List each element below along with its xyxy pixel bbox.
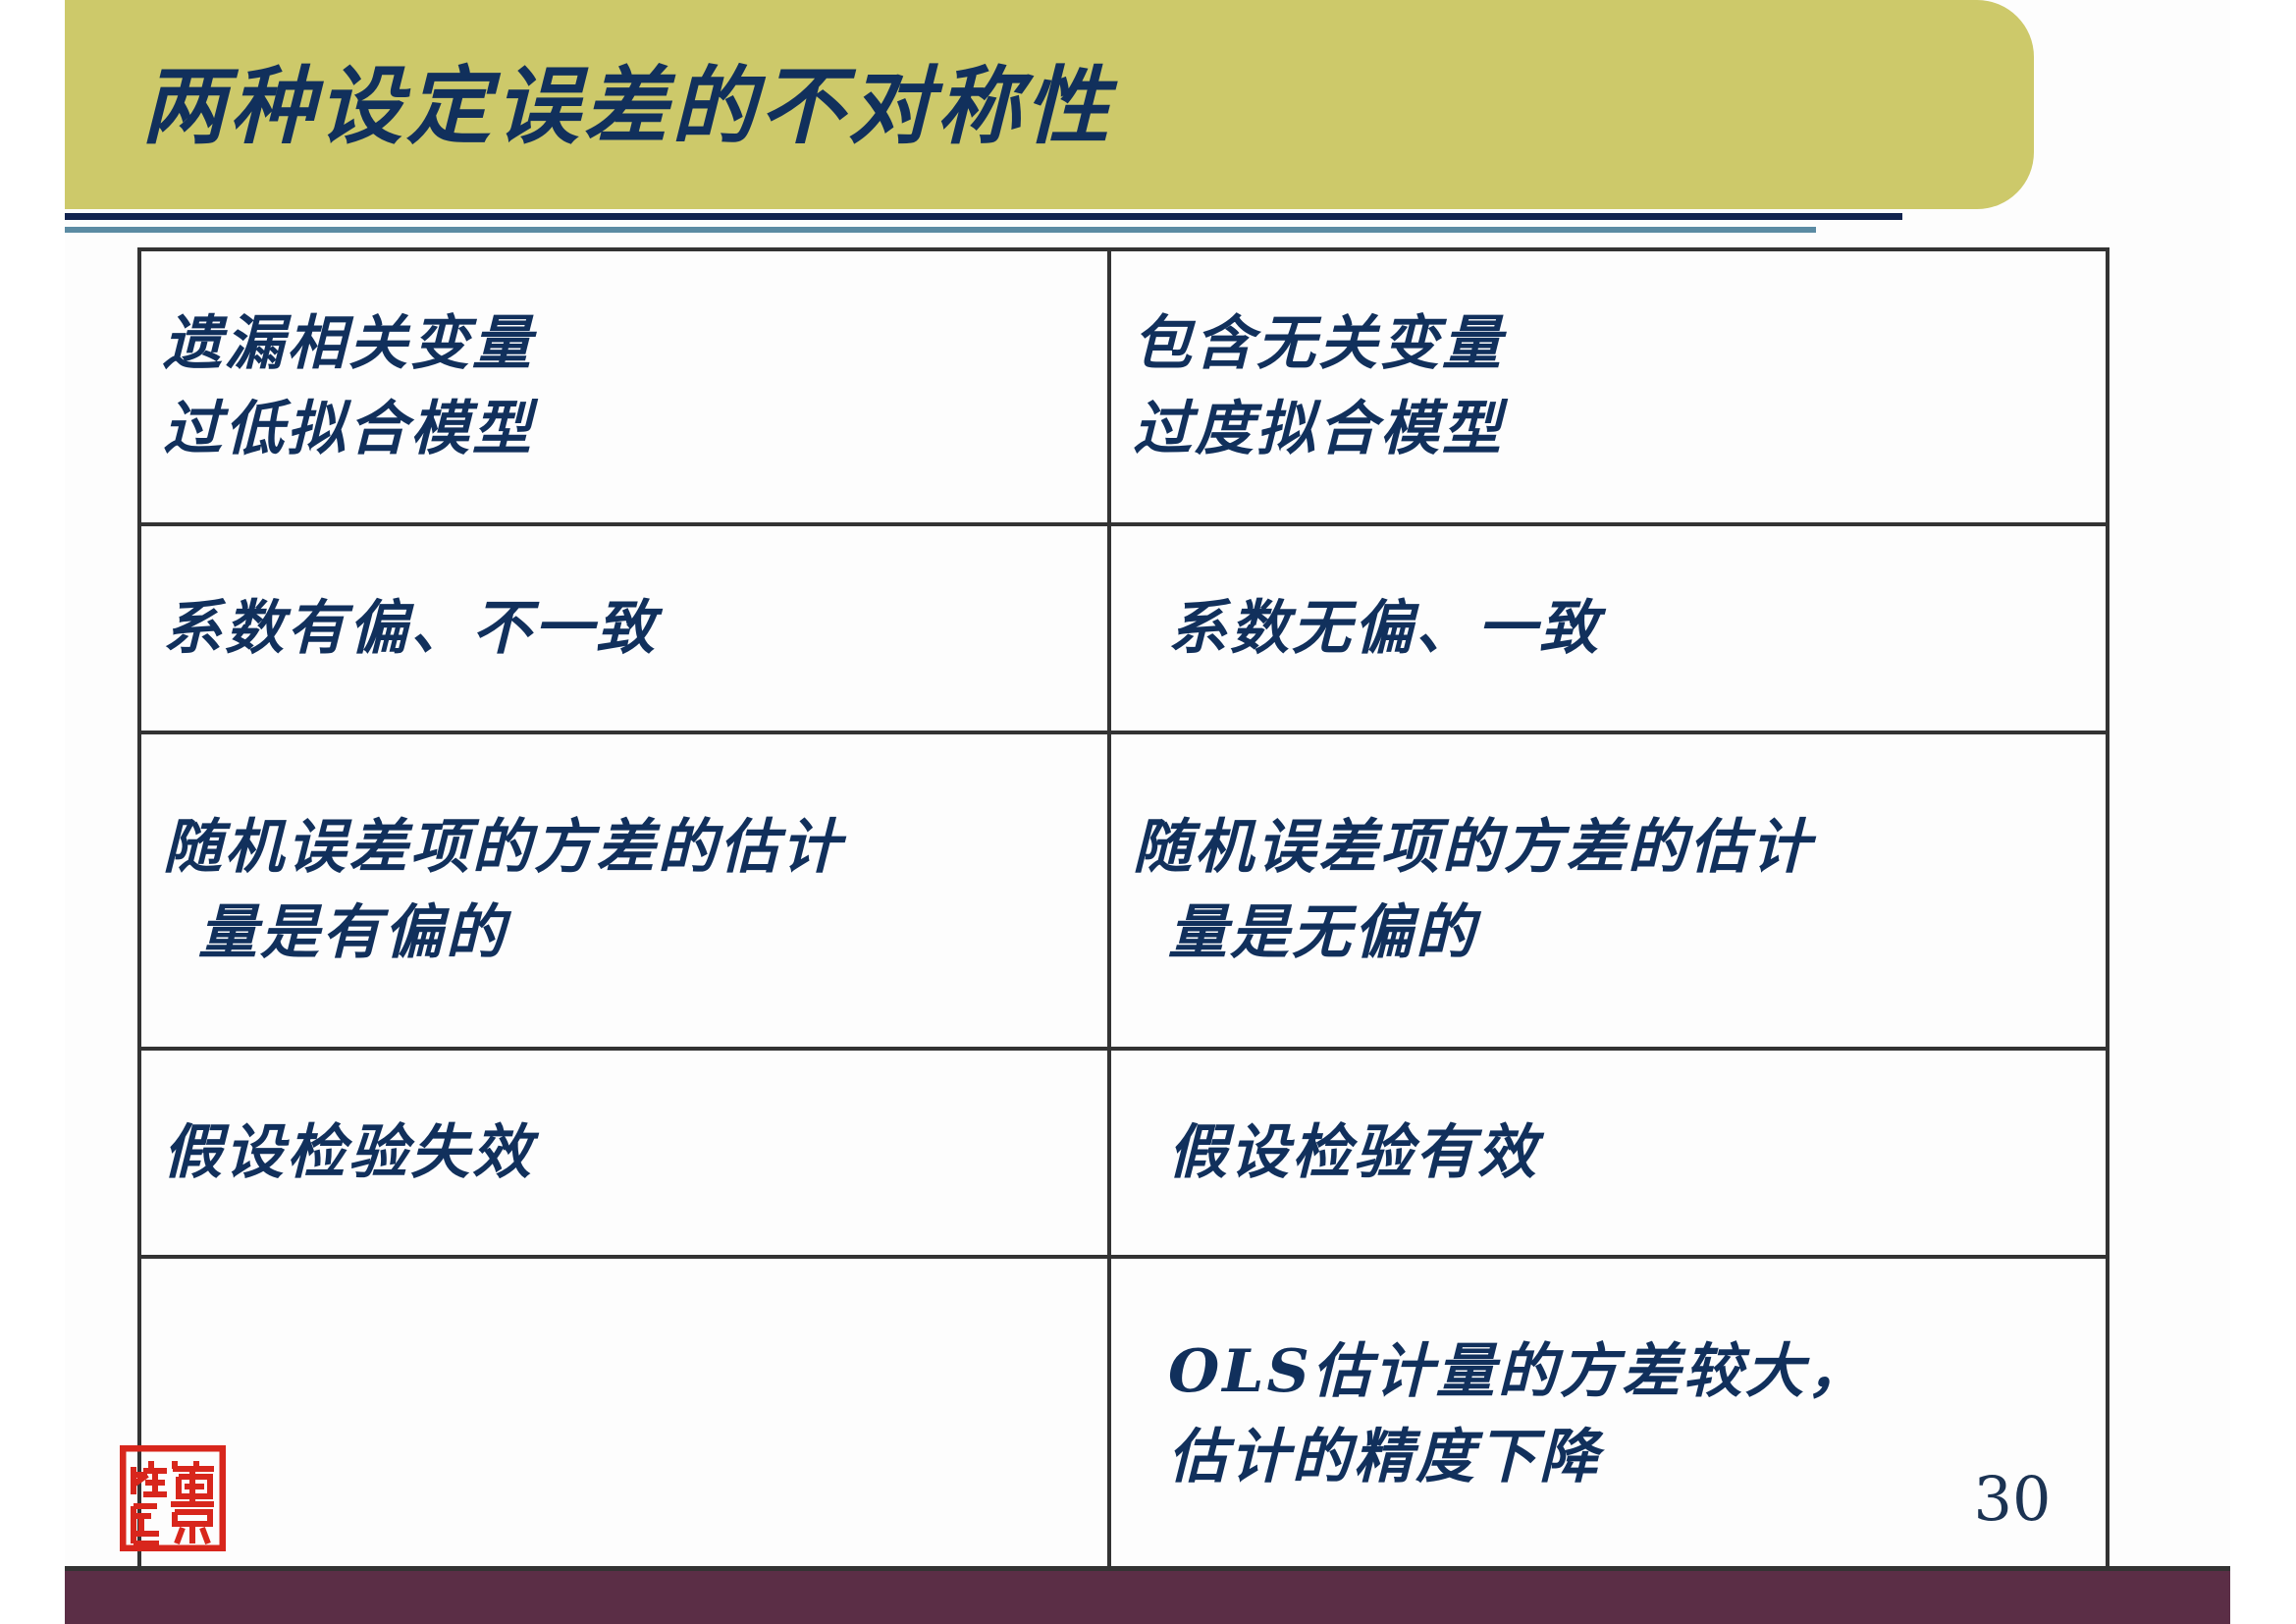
cell-line: 假设检验失效 bbox=[163, 1110, 1107, 1196]
cell-line: 量是无偏的 bbox=[1133, 891, 2106, 976]
table-row: 遗漏相关变量 过低拟合模型 包含无关变量 过度拟合模型 bbox=[139, 249, 2108, 524]
cell-line: 随机误差项的方差的估计 bbox=[1133, 805, 2106, 891]
table-cell-right: 包含无关变量 过度拟合模型 bbox=[1109, 249, 2108, 524]
table-cell-right: 随机误差项的方差的估计 量是无偏的 bbox=[1109, 732, 2108, 1049]
cell-line: 量是有偏的 bbox=[163, 891, 1107, 976]
slide-canvas: 两种设定误差的不对称性 遗漏相关变量 过低拟合模型 包含无关变量 过度拟合模型 … bbox=[0, 0, 2296, 1624]
cell-line: 包含无关变量 bbox=[1133, 301, 2106, 387]
table-row: OLS估计量的方差较大， 估计的精度下降 bbox=[139, 1257, 2108, 1573]
cell-line: 系数无偏、一致 bbox=[1133, 586, 2106, 672]
table-cell-right: 假设检验有效 bbox=[1109, 1049, 2108, 1257]
cell-line: 系数有偏、不一致 bbox=[163, 586, 1107, 672]
cell-line: OLS估计量的方差较大， bbox=[1133, 1329, 2106, 1415]
table-cell-left: 遗漏相关变量 过低拟合模型 bbox=[139, 249, 1109, 524]
table-row: 假设检验失效 假设检验有效 bbox=[139, 1049, 2108, 1257]
cell-line: 假设检验有效 bbox=[1133, 1110, 2106, 1196]
table-row: 系数有偏、不一致 系数无偏、一致 bbox=[139, 524, 2108, 732]
divider-rule-navy bbox=[65, 213, 1902, 220]
comparison-table: 遗漏相关变量 过低拟合模型 包含无关变量 过度拟合模型 系数有偏、不一致 系数无… bbox=[137, 247, 2109, 1575]
page-title: 两种设定误差的不对称性 bbox=[141, 14, 2006, 200]
footer-bar bbox=[65, 1566, 2230, 1624]
seal-stamp-icon bbox=[120, 1445, 226, 1551]
title-banner: 两种设定误差的不对称性 bbox=[65, 0, 2034, 209]
table-cell-left: 随机误差项的方差的估计 量是有偏的 bbox=[139, 732, 1109, 1049]
divider-rule-steel bbox=[65, 227, 1816, 233]
cell-line: 过低拟合模型 bbox=[163, 387, 1107, 472]
cell-line: 遗漏相关变量 bbox=[163, 301, 1107, 387]
table-cell-left: 假设检验失效 bbox=[139, 1049, 1109, 1257]
table-row: 随机误差项的方差的估计 量是有偏的 随机误差项的方差的估计 量是无偏的 bbox=[139, 732, 2108, 1049]
page-number: 30 bbox=[1953, 1465, 2071, 1534]
cell-line: 随机误差项的方差的估计 bbox=[163, 805, 1107, 891]
table-cell-right: 系数无偏、一致 bbox=[1109, 524, 2108, 732]
table-cell-left-empty bbox=[139, 1257, 1109, 1573]
table-cell-left: 系数有偏、不一致 bbox=[139, 524, 1109, 732]
cell-line: 过度拟合模型 bbox=[1133, 387, 2106, 472]
